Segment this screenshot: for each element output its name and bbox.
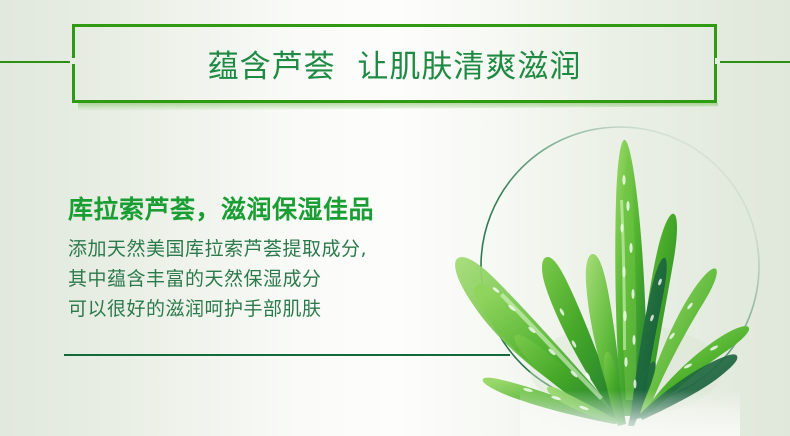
title-frame-gap-right: [715, 58, 720, 64]
banner-title: 蕴含芦荟 让肌肤清爽滋润: [72, 24, 717, 103]
horizontal-rule-left: [0, 61, 74, 63]
body-copy: 添加天然美国库拉索芦荟提取成分, 其中蕴含丰富的天然保湿成分 可以很好的滋润呵护…: [68, 234, 367, 324]
aloe-leaf: [455, 257, 616, 418]
title-frame-gap-left: [70, 58, 75, 64]
bottom-divider-rule: [64, 354, 510, 356]
aloe-central-spike: [615, 140, 646, 416]
aloe-vera-plant: [455, 140, 749, 436]
body-line-3: 可以很好的滋润呵护手部肌肤: [68, 294, 367, 324]
title-frame-shadow: [78, 103, 718, 111]
leaf-speckles: [492, 175, 719, 411]
section-headline: 库拉索芦荟，滋润保湿佳品: [68, 190, 374, 226]
body-line-1: 添加天然美国库拉索芦荟提取成分,: [68, 234, 367, 264]
aloe-product-banner: 蕴含芦荟 让肌肤清爽滋润 库拉索芦荟，滋润保湿佳品 添加天然美国库拉索芦荟提取成…: [0, 0, 790, 436]
horizontal-rule-right: [715, 61, 790, 63]
decorative-circle-outline: [481, 127, 759, 405]
body-line-2: 其中蕴含丰富的天然保湿成分: [68, 264, 367, 294]
